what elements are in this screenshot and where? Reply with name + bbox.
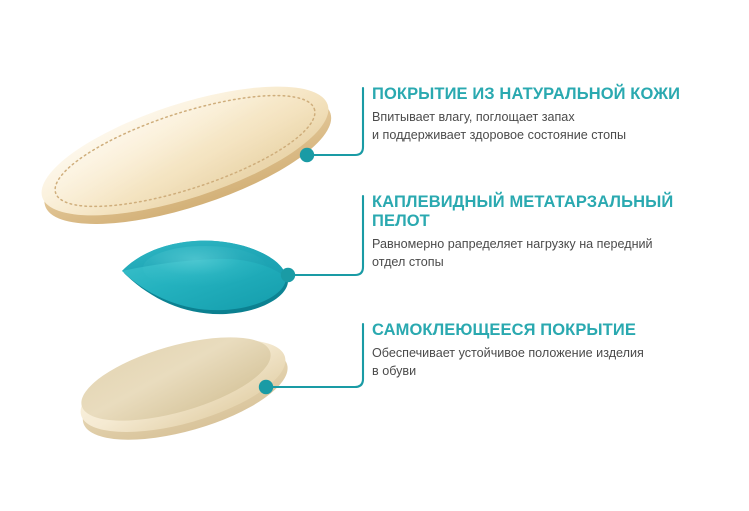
callout-leather-cover: ПОКРЫТИЕ ИЗ НАТУРАЛЬНОЙ КОЖИ Впитывает в… [372, 85, 702, 145]
callout-metatarsal-pad: КАПЛЕВИДНЫЙ МЕТАТАРЗАЛЬНЫЙ ПЕЛОТ Равноме… [372, 193, 702, 272]
callout-title-adhesive-cover: САМОКЛЕЮЩЕЕСЯ ПОКРЫТИЕ [372, 321, 702, 340]
callout-connector-adhesive [270, 324, 363, 387]
stitching-line [44, 73, 326, 229]
callout-dot-leather [300, 148, 314, 162]
infographic-canvas: ПОКРЫТИЕ ИЗ НАТУРАЛЬНОЙ КОЖИ Впитывает в… [0, 0, 749, 511]
self-adhesive-cover-illustration [71, 320, 297, 458]
natural-leather-cover-illustration [28, 60, 345, 251]
callout-body-metatarsal-pad: Равномерно рапределяет нагрузку на перед… [372, 236, 702, 272]
callout-body-leather-cover: Впитывает влагу, поглощает запах и подде… [372, 109, 702, 145]
callout-dot-pad [281, 268, 295, 282]
callout-title-leather-cover: ПОКРЫТИЕ ИЗ НАТУРАЛЬНОЙ КОЖИ [372, 85, 702, 104]
callout-connector-pad [292, 196, 363, 275]
callout-adhesive-cover: САМОКЛЕЮЩЕЕСЯ ПОКРЫТИЕ Обеспечивает усто… [372, 321, 702, 381]
callout-connector-leather [311, 88, 363, 155]
callout-body-adhesive-cover: Обеспечивает устойчивое положение издели… [372, 345, 702, 381]
callout-title-metatarsal-pad: КАПЛЕВИДНЫЙ МЕТАТАРЗАЛЬНЫЙ ПЕЛОТ [372, 193, 702, 231]
callout-dot-adhesive [259, 380, 273, 394]
teardrop-metatarsal-pad-illustration [122, 241, 288, 315]
